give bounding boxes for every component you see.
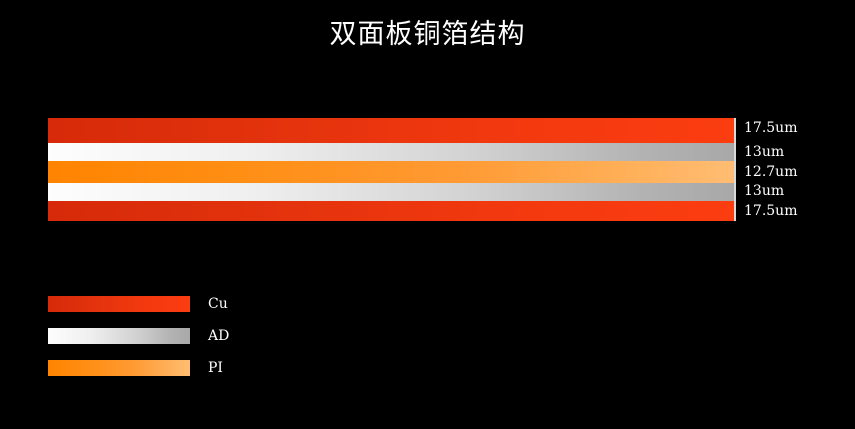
layer-thickness-label: 12.7um xyxy=(744,165,797,179)
legend-label-pi: PI xyxy=(208,359,223,377)
legend-item-cu: Cu xyxy=(48,296,308,312)
stack-right-edge-line xyxy=(734,118,736,221)
layer-thickness-labels: 17.5um 13um 12.7um 13um 17.5um xyxy=(744,118,854,221)
stack-layer-cu-bottom xyxy=(48,201,734,221)
legend-label-ad: AD xyxy=(208,327,229,345)
layer-fill-cu xyxy=(48,201,734,221)
layer-thickness-label: 13um xyxy=(744,145,784,159)
layer-fill-ad xyxy=(48,183,734,201)
legend-swatch-pi xyxy=(48,360,190,376)
layer-fill-pi xyxy=(48,161,734,183)
legend: Cu AD PI xyxy=(48,296,308,392)
layer-thickness-label: 13um xyxy=(744,184,784,198)
layer-stack-diagram xyxy=(48,118,734,221)
layer-thickness-label: 17.5um xyxy=(744,204,797,218)
legend-item-ad: AD xyxy=(48,328,308,344)
legend-item-pi: PI xyxy=(48,360,308,376)
layer-fill-ad xyxy=(48,143,734,161)
legend-label-cu: Cu xyxy=(208,295,228,313)
stack-layer-pi-core xyxy=(48,161,734,183)
page-title: 双面板铜箔结构 xyxy=(0,18,855,52)
legend-swatch-cu xyxy=(48,296,190,312)
stack-layer-cu-top xyxy=(48,118,734,143)
layer-fill-cu xyxy=(48,118,734,143)
legend-swatch-ad xyxy=(48,328,190,344)
stack-layer-ad-lower xyxy=(48,183,734,201)
layer-thickness-label: 17.5um xyxy=(744,121,797,135)
stack-layer-ad-upper xyxy=(48,143,734,161)
